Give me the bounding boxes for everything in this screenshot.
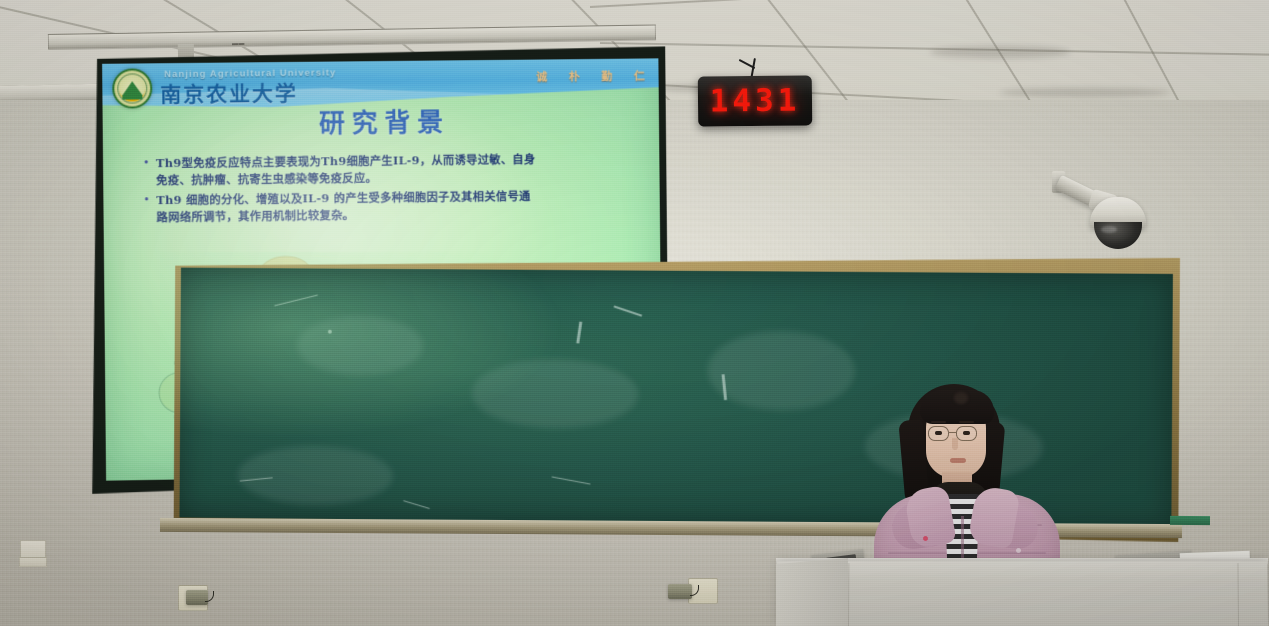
wall-junction-box — [20, 540, 46, 558]
lapel-pin — [923, 536, 928, 541]
motto-char-2: 朴 — [569, 68, 580, 84]
wall-switch-plate[interactable] — [19, 557, 47, 567]
lecture-podium[interactable] — [776, 561, 1268, 626]
bullet-marker: • — [143, 155, 156, 188]
nose — [952, 438, 958, 450]
lecture-hall-photo: ▬▬ Nanjing Agricultural University 南京农业大… — [0, 0, 1269, 626]
wall-digital-clock: 1431 — [698, 75, 813, 126]
eyeglasses-bridge — [949, 432, 957, 433]
nau-crest-logo — [112, 68, 152, 108]
motto-char-3: 勤 — [601, 68, 612, 84]
chalk-box — [1170, 516, 1210, 525]
motto-char-4: 仁 — [634, 67, 645, 83]
bullet-marker: • — [143, 192, 156, 225]
slide-title: 研究背景 — [319, 102, 450, 140]
university-name-chinese: 南京农业大学 — [160, 78, 298, 109]
list-item: • Th9 细胞的分化、增殖以及IL-9 的产生受多种细胞因子及其相关信号通 路… — [143, 187, 632, 226]
slide-bullet-list: • Th9型免疫反应特点主要表现为Th9细胞产生IL-9，从而诱导过敏、自身 免… — [143, 150, 632, 229]
plug-center[interactable] — [668, 584, 692, 599]
motto-char-1: 诚 — [536, 68, 547, 84]
screen-brand-label: ▬▬ — [232, 41, 245, 47]
jacket-snap-button — [1016, 548, 1021, 553]
mouth — [950, 458, 966, 463]
clock-time-display: 1431 — [709, 83, 800, 120]
camera-lens-glint — [1101, 226, 1117, 233]
hair-part — [954, 392, 968, 404]
list-item: • Th9型免疫反应特点主要表现为Th9细胞产生IL-9，从而诱导过敏、自身 免… — [143, 150, 632, 188]
eye-left — [935, 431, 942, 435]
eyebrow-left — [931, 421, 946, 423]
eye-right — [963, 431, 970, 435]
eyebrow-right — [959, 421, 974, 423]
podium-left-wing — [776, 558, 848, 626]
university-motto: 诚 朴 勤 仁 — [536, 67, 645, 84]
